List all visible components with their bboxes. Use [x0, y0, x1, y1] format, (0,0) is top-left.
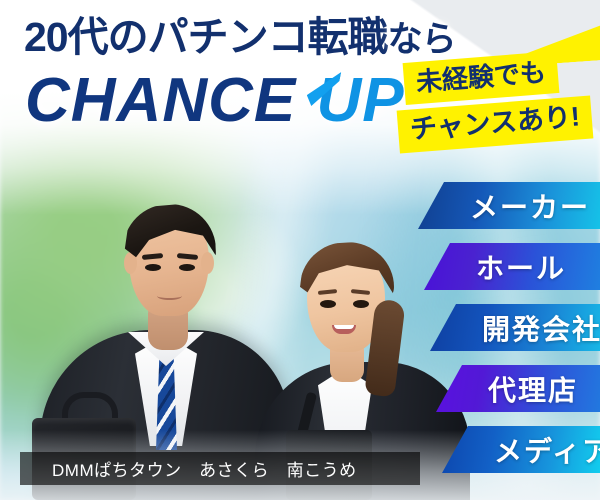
male-mouth [157, 292, 182, 300]
male-ear-right [201, 252, 214, 274]
female-teeth [334, 325, 354, 329]
category-label: メディア [494, 430, 600, 470]
chance-up-logo: CHANCE UP [25, 70, 405, 132]
male-eye-left [145, 264, 161, 271]
caption-bar: DMMぱちタウン あさくら 南こうめ [20, 452, 420, 485]
category-label: 代理店 [488, 369, 578, 409]
caption-text: DMMぱちタウン あさくら 南こうめ [52, 456, 357, 481]
category-button-agency[interactable]: 代理店 [436, 365, 600, 412]
logo-word-up: UP [314, 66, 404, 135]
female-eye-right [353, 300, 369, 308]
category-button-maker[interactable]: メーカー [418, 182, 600, 229]
male-eye-right [179, 264, 195, 271]
headline-main: 20代のパチンコ転職 [24, 14, 388, 60]
headline-tail: なら [388, 20, 456, 59]
category-label: 開発会社 [482, 308, 600, 348]
category-button-media[interactable]: メディア [442, 426, 600, 473]
category-button-hall[interactable]: ホール [424, 243, 600, 290]
headline: 20代のパチンコ転職なら [24, 17, 456, 58]
recruitment-banner: 20代のパチンコ転職なら CHANCE UP 未経験でも チャンスあり! メーカ… [0, 0, 600, 500]
category-button-developer[interactable]: 開発会社 [430, 304, 600, 351]
category-label: ホール [476, 247, 566, 287]
category-label: メーカー [470, 186, 590, 226]
female-eye-left [320, 300, 336, 308]
logo-word-chance: CHANCE [25, 66, 296, 135]
